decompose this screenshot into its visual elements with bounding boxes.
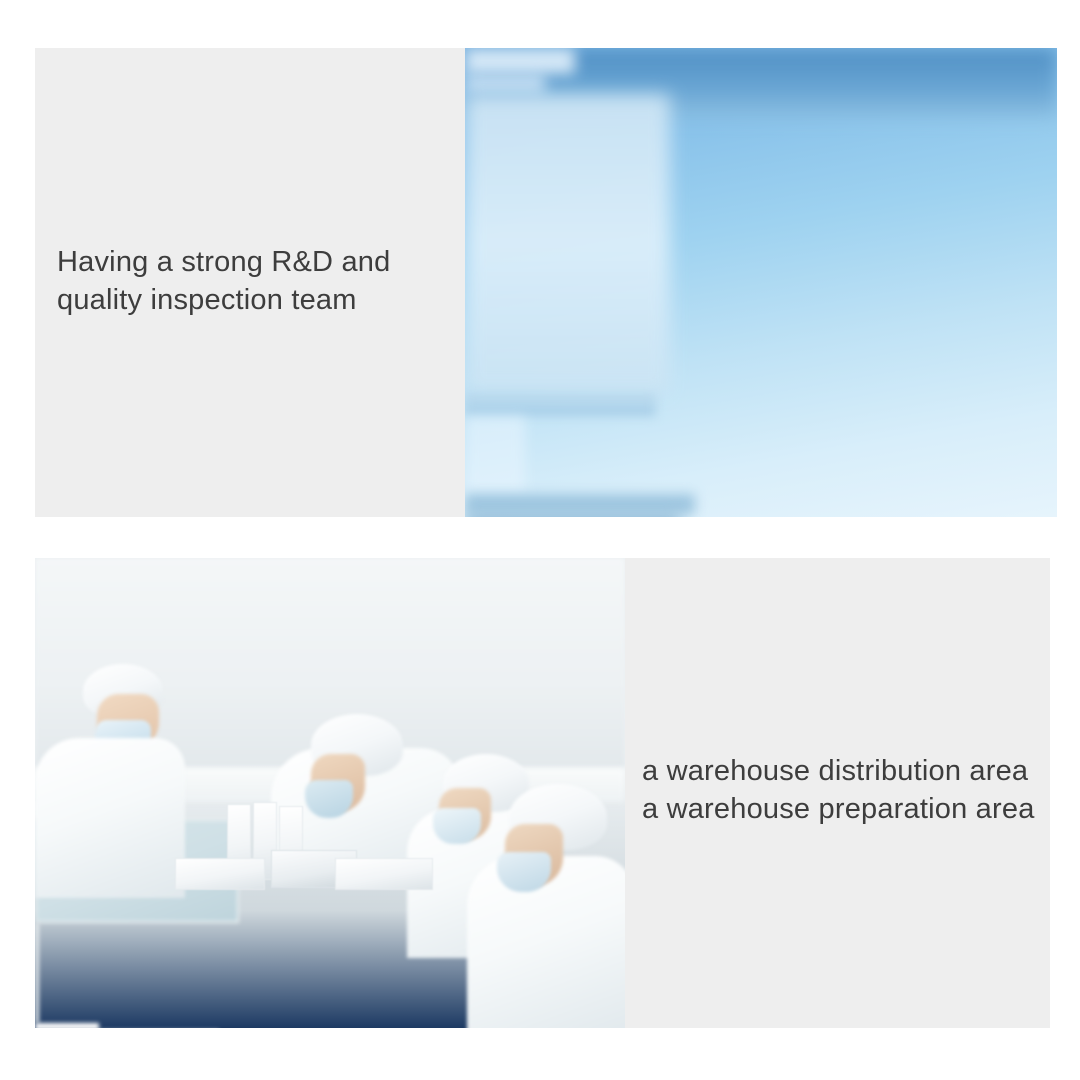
lab-equipment-rack bbox=[465, 416, 525, 494]
window-light-reflection bbox=[35, 1023, 99, 1028]
worker-three-face-mask bbox=[433, 808, 481, 844]
lab-counter bbox=[465, 494, 695, 514]
slide-canvas: Having a strong R&D and quality inspecti… bbox=[0, 0, 1080, 1080]
lab-inspection-photo bbox=[465, 48, 1057, 517]
ceiling-light-icon bbox=[465, 48, 575, 74]
carton-flat-right bbox=[335, 858, 433, 890]
worker-one-coat bbox=[35, 738, 185, 898]
carton-flat-left bbox=[175, 858, 265, 890]
lab-back-wall bbox=[465, 94, 670, 394]
window-mullion bbox=[35, 923, 39, 1023]
warehouse-packing-photo bbox=[35, 558, 625, 1028]
lab-cabinet bbox=[465, 514, 680, 517]
lab-shelf-upper bbox=[465, 394, 655, 404]
ceiling-light-secondary-icon bbox=[465, 74, 545, 94]
bottom-caption-text: a warehouse distribution area a warehous… bbox=[642, 752, 1046, 829]
top-caption-text: Having a strong R&D and quality inspecti… bbox=[57, 243, 457, 320]
lab-shelf-lower bbox=[465, 404, 655, 416]
